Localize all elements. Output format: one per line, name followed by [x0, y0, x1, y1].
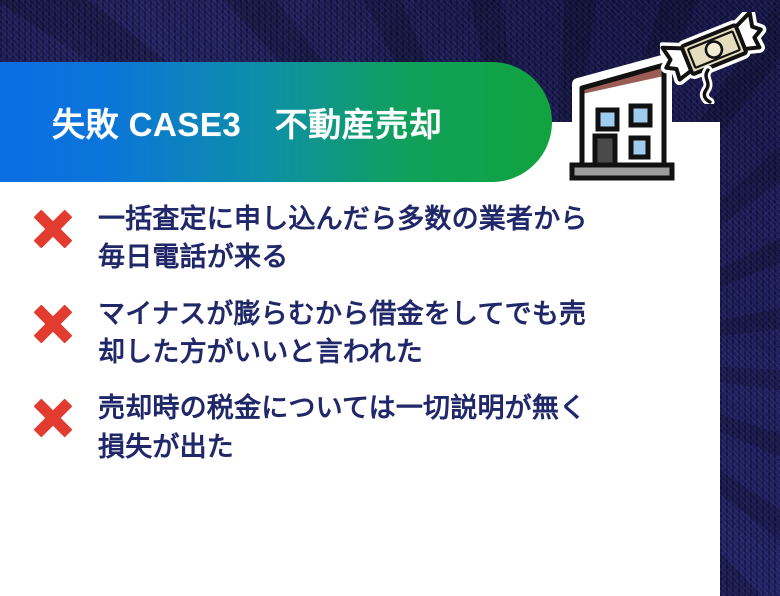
case-title-bar: 失敗 CASE3 不動産売却: [0, 62, 552, 182]
failure-points-list: 一括査定に申し込んだら多数の業者から 毎日電話が来る マイナスが膨らむから借金を…: [0, 200, 720, 484]
list-item: 一括査定に申し込んだら多数の業者から 毎日電話が来る: [0, 200, 720, 277]
page-title: 失敗 CASE3 不動産売却: [0, 98, 442, 146]
list-item-label: 一括査定に申し込んだら多数の業者から 毎日電話が来る: [98, 200, 588, 277]
cross-mark-icon: [30, 395, 76, 441]
list-item-label: 売却時の税金については一切説明が無く 損失が出た: [98, 389, 586, 466]
cross-mark-icon: [30, 206, 76, 252]
money-bill-icon: [660, 12, 772, 104]
list-item-label: マイナスが膨らむから借金をしてでも売 却した方がいいと言われた: [98, 295, 586, 372]
cross-mark-icon: [30, 301, 76, 347]
list-item: マイナスが膨らむから借金をしてでも売 却した方がいいと言われた: [0, 295, 720, 372]
list-item: 売却時の税金については一切説明が無く 損失が出た: [0, 389, 720, 466]
flying-banknote-icon: [660, 12, 772, 104]
